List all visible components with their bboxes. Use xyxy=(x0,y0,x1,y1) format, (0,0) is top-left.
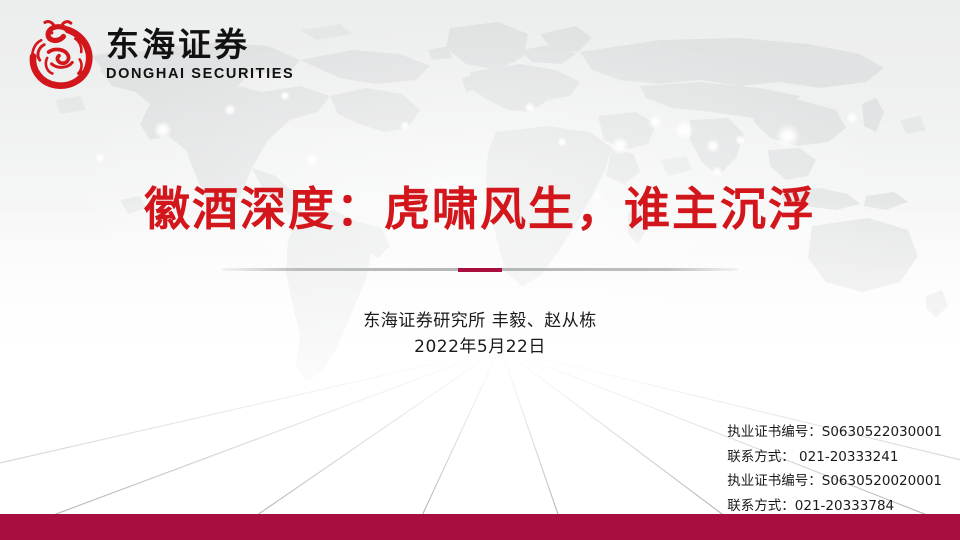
glow-dot xyxy=(735,135,745,145)
title-divider xyxy=(222,268,738,271)
glow-dot xyxy=(648,115,662,129)
brand-name-cn: 东海证券 xyxy=(106,28,294,61)
glow-dot xyxy=(674,120,694,140)
glow-dot xyxy=(611,137,629,155)
title-block: 徽酒深度：虎啸风生，谁主沉浮 xyxy=(0,182,960,236)
glow-dot xyxy=(154,121,172,139)
contact-info-block: 执业证书编号：S0630522030001 联系方式： 021-20333241… xyxy=(727,420,942,519)
glow-dot xyxy=(280,91,290,101)
glow-dot xyxy=(305,153,319,167)
slide-root: 东海证券 DONGHAI SECURITIES 徽酒深度：虎啸风生，谁主沉浮 东… xyxy=(0,0,960,540)
brand-logo-text: 东海证券 DONGHAI SECURITIES xyxy=(106,28,294,82)
brand-name-en: DONGHAI SECURITIES xyxy=(106,67,294,82)
license-number-2: 执业证书编号：S0630520020001 xyxy=(727,469,942,494)
bottom-accent-bar xyxy=(0,514,960,540)
glow-dot xyxy=(524,102,536,114)
glow-dot xyxy=(95,153,105,163)
page-title: 徽酒深度：虎啸风生，谁主沉浮 xyxy=(0,182,960,236)
subtitle-block: 东海证券研究所 丰毅、赵从栋 2022年5月22日 xyxy=(0,308,960,361)
glow-dot xyxy=(706,139,720,153)
contact-phone-1: 联系方式： 021-20333241 xyxy=(727,445,942,470)
license-number-1: 执业证书编号：S0630522030001 xyxy=(727,420,942,445)
dragon-circle-logo-icon xyxy=(22,18,96,92)
brand-logo: 东海证券 DONGHAI SECURITIES xyxy=(22,18,294,92)
glow-dot xyxy=(400,121,410,131)
glow-dot xyxy=(776,124,800,148)
glow-dot xyxy=(846,112,858,124)
glow-dot xyxy=(711,166,723,178)
divider-accent-bar xyxy=(458,268,502,272)
glow-dot xyxy=(224,104,236,116)
subtitle-authors: 东海证券研究所 丰毅、赵从栋 xyxy=(0,308,960,334)
subtitle-date: 2022年5月22日 xyxy=(0,334,960,360)
glow-dot xyxy=(557,137,567,147)
